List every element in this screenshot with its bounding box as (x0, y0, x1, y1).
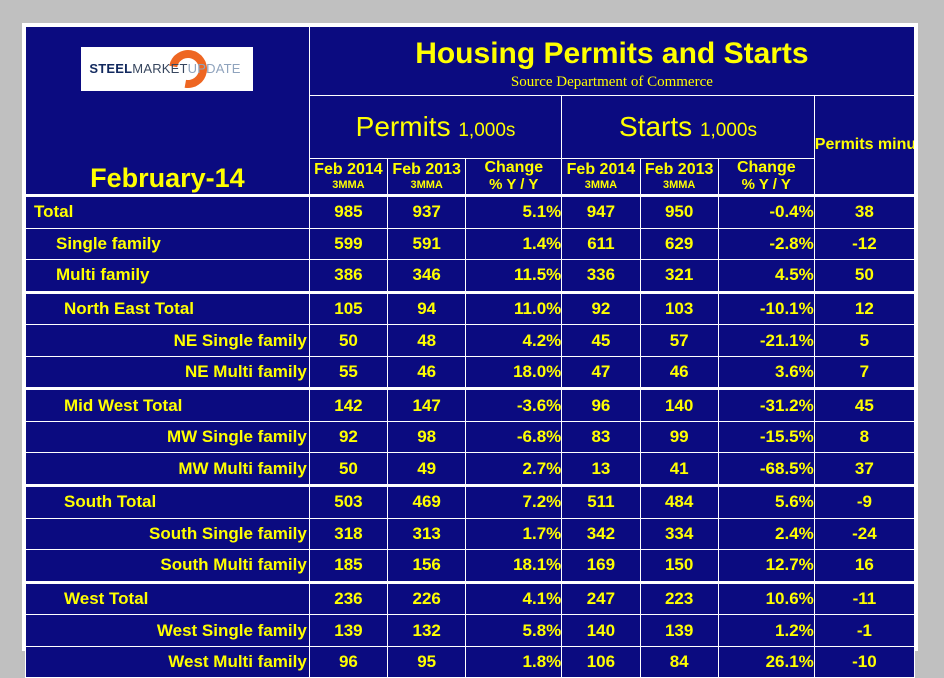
col-header-starts-change: Change% Y / Y (718, 159, 814, 196)
table-container: STEELMARKETUPDATE February-14 Housing Pe… (25, 26, 915, 648)
row-label: Multi family (26, 260, 310, 293)
cell-starts-2013: 150 (640, 550, 718, 583)
cell-starts-change: -31.2% (718, 389, 814, 422)
cell-permits-2014: 318 (309, 518, 387, 549)
cell-permits-minus-starts: 45 (814, 389, 914, 422)
cell-permits-2013: 132 (388, 615, 466, 646)
table-row: South Total5034697.2%5114845.6%-9 (26, 486, 915, 519)
cell-starts-change: -2.8% (718, 228, 814, 259)
logo-market-text: MARKET (132, 61, 187, 76)
cell-permits-2013: 156 (388, 550, 466, 583)
cell-permits-minus-starts: 5 (814, 325, 914, 356)
col-header-starts-change-unit: % Y / Y (719, 177, 814, 194)
table-header: STEELMARKETUPDATE February-14 Housing Pe… (26, 27, 915, 196)
source-note: Source Department of Commerce (310, 70, 914, 95)
cell-permits-2013: 591 (388, 228, 466, 259)
row-label: Total (26, 196, 310, 229)
month-label: February-14 (26, 91, 309, 194)
title-block: Housing Permits and Starts Source Depart… (309, 27, 914, 96)
cell-permits-minus-starts: 16 (814, 550, 914, 583)
cell-starts-2013: 629 (640, 228, 718, 259)
table-row: MW Single family9298-6.8%8399-15.5%8 (26, 421, 915, 452)
header-row-title: STEELMARKETUPDATE February-14 Housing Pe… (26, 27, 915, 96)
cell-starts-2013: 84 (640, 646, 718, 678)
cell-permits-2014: 55 (309, 356, 387, 389)
cell-permits-minus-starts: 8 (814, 421, 914, 452)
cell-starts-2013: 334 (640, 518, 718, 549)
cell-starts-2013: 484 (640, 486, 718, 519)
row-label: West Single family (26, 615, 310, 646)
slide-frame: STEELMARKETUPDATE February-14 Housing Pe… (22, 23, 918, 651)
col-header-starts-2013-label: Feb 2013 (645, 161, 713, 178)
cell-starts-2013: 321 (640, 260, 718, 293)
row-label: NE Multi family (26, 356, 310, 389)
cell-permits-2014: 105 (309, 292, 387, 325)
row-label: West Multi family (26, 646, 310, 678)
housing-permits-starts-table: STEELMARKETUPDATE February-14 Housing Pe… (25, 26, 915, 678)
cell-permits-2014: 142 (309, 389, 387, 422)
table-row: South Multi family18515618.1%16915012.7%… (26, 550, 915, 583)
col-header-permits-2014: Feb 20143MMA (309, 159, 387, 196)
cell-starts-2013: 103 (640, 292, 718, 325)
col-header-starts-2013-note: 3MMA (641, 178, 718, 192)
table-row: South Single family3183131.7%3423342.4%-… (26, 518, 915, 549)
cell-permits-2013: 95 (388, 646, 466, 678)
cell-permits-minus-starts: -1 (814, 615, 914, 646)
cell-permits-minus-starts: 37 (814, 453, 914, 486)
col-header-permits-change-unit: % Y / Y (466, 177, 561, 194)
cell-permits-change: 18.0% (466, 356, 562, 389)
cell-permits-2013: 313 (388, 518, 466, 549)
cell-starts-change: 12.7% (718, 550, 814, 583)
cell-permits-2014: 599 (309, 228, 387, 259)
cell-permits-2013: 94 (388, 292, 466, 325)
table-row: Total9859375.1%947950-0.4%38 (26, 196, 915, 229)
cell-starts-change: -68.5% (718, 453, 814, 486)
cell-permits-change: 5.8% (466, 615, 562, 646)
cell-permits-2013: 937 (388, 196, 466, 229)
cell-permits-minus-starts: 50 (814, 260, 914, 293)
col-header-starts-2013: Feb 20133MMA (640, 159, 718, 196)
cell-permits-2013: 98 (388, 421, 466, 452)
table-row: West Total2362264.1%24722310.6%-11 (26, 582, 915, 615)
cell-starts-2014: 47 (562, 356, 640, 389)
cell-permits-minus-starts: 38 (814, 196, 914, 229)
cell-permits-minus-starts: -11 (814, 582, 914, 615)
cell-starts-2014: 96 (562, 389, 640, 422)
starts-group-label: Starts (619, 111, 692, 142)
col-header-starts-2014-label: Feb 2014 (567, 161, 635, 178)
row-label: South Total (26, 486, 310, 519)
cell-starts-2014: 106 (562, 646, 640, 678)
cell-starts-2014: 511 (562, 486, 640, 519)
cell-permits-change: 2.7% (466, 453, 562, 486)
table-row: NE Single family50484.2%4557-21.1%5 (26, 325, 915, 356)
cell-starts-2013: 223 (640, 582, 718, 615)
cell-starts-2014: 140 (562, 615, 640, 646)
row-label: MW Multi family (26, 453, 310, 486)
cell-permits-minus-starts: 12 (814, 292, 914, 325)
row-label: North East Total (26, 292, 310, 325)
row-label: NE Single family (26, 325, 310, 356)
cell-permits-minus-starts: -24 (814, 518, 914, 549)
cell-permits-minus-starts: 7 (814, 356, 914, 389)
col-header-permits-2014-label: Feb 2014 (314, 161, 382, 178)
cell-permits-2014: 985 (309, 196, 387, 229)
cell-permits-2014: 386 (309, 260, 387, 293)
page-title: Housing Permits and Starts (310, 27, 914, 70)
cell-starts-2014: 947 (562, 196, 640, 229)
cell-starts-change: -10.1% (718, 292, 814, 325)
cell-starts-2014: 13 (562, 453, 640, 486)
cell-starts-change: -15.5% (718, 421, 814, 452)
cell-permits-2014: 96 (309, 646, 387, 678)
cell-starts-change: 3.6% (718, 356, 814, 389)
row-label: South Multi family (26, 550, 310, 583)
cell-starts-2013: 139 (640, 615, 718, 646)
cell-permits-change: -6.8% (466, 421, 562, 452)
col-header-starts-2014: Feb 20143MMA (562, 159, 640, 196)
row-label: South Single family (26, 518, 310, 549)
col-header-permits-change-label: Change (484, 159, 543, 176)
logo-update-text: UPDATE (188, 61, 241, 76)
cell-permits-change: 5.1% (466, 196, 562, 229)
table-row: West Multi family96951.8%1068426.1%-10 (26, 646, 915, 678)
cell-permits-change: 11.0% (466, 292, 562, 325)
permits-group-header: Permits 1,000s (309, 96, 561, 159)
table-body: Total9859375.1%947950-0.4%38Single famil… (26, 196, 915, 678)
cell-permits-minus-starts: -12 (814, 228, 914, 259)
row-label: Single family (26, 228, 310, 259)
cell-permits-change: 1.8% (466, 646, 562, 678)
cell-permits-minus-starts: -9 (814, 486, 914, 519)
cell-permits-2014: 92 (309, 421, 387, 452)
cell-starts-change: 5.6% (718, 486, 814, 519)
cell-permits-2014: 139 (309, 615, 387, 646)
cell-permits-2014: 503 (309, 486, 387, 519)
cell-permits-2013: 49 (388, 453, 466, 486)
cell-permits-change: 1.4% (466, 228, 562, 259)
cell-starts-change: -0.4% (718, 196, 814, 229)
starts-group-header: Starts 1,000s (562, 96, 814, 159)
cell-permits-change: 4.2% (466, 325, 562, 356)
cell-starts-2014: 169 (562, 550, 640, 583)
cell-starts-2013: 950 (640, 196, 718, 229)
cell-starts-2014: 92 (562, 292, 640, 325)
cell-permits-2013: 48 (388, 325, 466, 356)
permits-units-label: 1,000s (458, 120, 515, 141)
cell-starts-2013: 99 (640, 421, 718, 452)
col-header-starts-2014-note: 3MMA (562, 178, 639, 192)
steel-market-update-logo: STEELMARKETUPDATE (81, 47, 253, 91)
row-label: Mid West Total (26, 389, 310, 422)
row-label: MW Single family (26, 421, 310, 452)
cell-permits-2013: 46 (388, 356, 466, 389)
cell-permits-change: 18.1% (466, 550, 562, 583)
cell-starts-2014: 336 (562, 260, 640, 293)
cell-permits-2014: 236 (309, 582, 387, 615)
table-row: MW Multi family50492.7%1341-68.5%37 (26, 453, 915, 486)
table-row: Mid West Total142147-3.6%96140-31.2%45 (26, 389, 915, 422)
col-header-permits-2013-note: 3MMA (388, 178, 465, 192)
cell-starts-change: 26.1% (718, 646, 814, 678)
col-header-starts-change-label: Change (737, 159, 796, 176)
cell-permits-change: 11.5% (466, 260, 562, 293)
col-header-permits-2013-label: Feb 2013 (392, 161, 460, 178)
table-row: West Single family1391325.8%1401391.2%-1 (26, 615, 915, 646)
permits-group-label: Permits (356, 111, 451, 142)
table-row: Multi family38634611.5%3363214.5%50 (26, 260, 915, 293)
cell-permits-change: -3.6% (466, 389, 562, 422)
table-row: North East Total1059411.0%92103-10.1%12 (26, 292, 915, 325)
cell-permits-2014: 185 (309, 550, 387, 583)
table-row: Single family5995911.4%611629-2.8%-12 (26, 228, 915, 259)
cell-starts-2013: 41 (640, 453, 718, 486)
row-label: West Total (26, 582, 310, 615)
cell-permits-change: 4.1% (466, 582, 562, 615)
cell-permits-change: 7.2% (466, 486, 562, 519)
cell-starts-2013: 57 (640, 325, 718, 356)
starts-units-label: 1,000s (700, 120, 757, 141)
logo-wordmark: STEELMARKETUPDATE (89, 61, 240, 76)
cell-starts-2014: 247 (562, 582, 640, 615)
cell-permits-2013: 469 (388, 486, 466, 519)
cell-starts-2013: 46 (640, 356, 718, 389)
cell-starts-2013: 140 (640, 389, 718, 422)
cell-starts-2014: 342 (562, 518, 640, 549)
col-header-permits-2014-note: 3MMA (310, 178, 387, 192)
col-header-permits-change: Change% Y / Y (466, 159, 562, 196)
cell-starts-change: 4.5% (718, 260, 814, 293)
logo-steel-text: STEEL (89, 61, 132, 76)
cell-permits-minus-starts: -10 (814, 646, 914, 678)
table-row: NE Multi family554618.0%47463.6%7 (26, 356, 915, 389)
cell-permits-2013: 226 (388, 582, 466, 615)
cell-permits-2014: 50 (309, 325, 387, 356)
permits-minus-starts-header: Permits minus Starts Feb 14 (814, 96, 914, 196)
cell-permits-change: 1.7% (466, 518, 562, 549)
col-header-permits-2013: Feb 20133MMA (388, 159, 466, 196)
cell-starts-2014: 611 (562, 228, 640, 259)
cell-starts-change: 1.2% (718, 615, 814, 646)
cell-permits-2013: 147 (388, 389, 466, 422)
cell-starts-change: -21.1% (718, 325, 814, 356)
cell-starts-2014: 45 (562, 325, 640, 356)
cell-permits-2013: 346 (388, 260, 466, 293)
cell-starts-change: 2.4% (718, 518, 814, 549)
cell-starts-2014: 83 (562, 421, 640, 452)
cell-permits-2014: 50 (309, 453, 387, 486)
brand-panel: STEELMARKETUPDATE February-14 (26, 27, 310, 196)
cell-starts-change: 10.6% (718, 582, 814, 615)
